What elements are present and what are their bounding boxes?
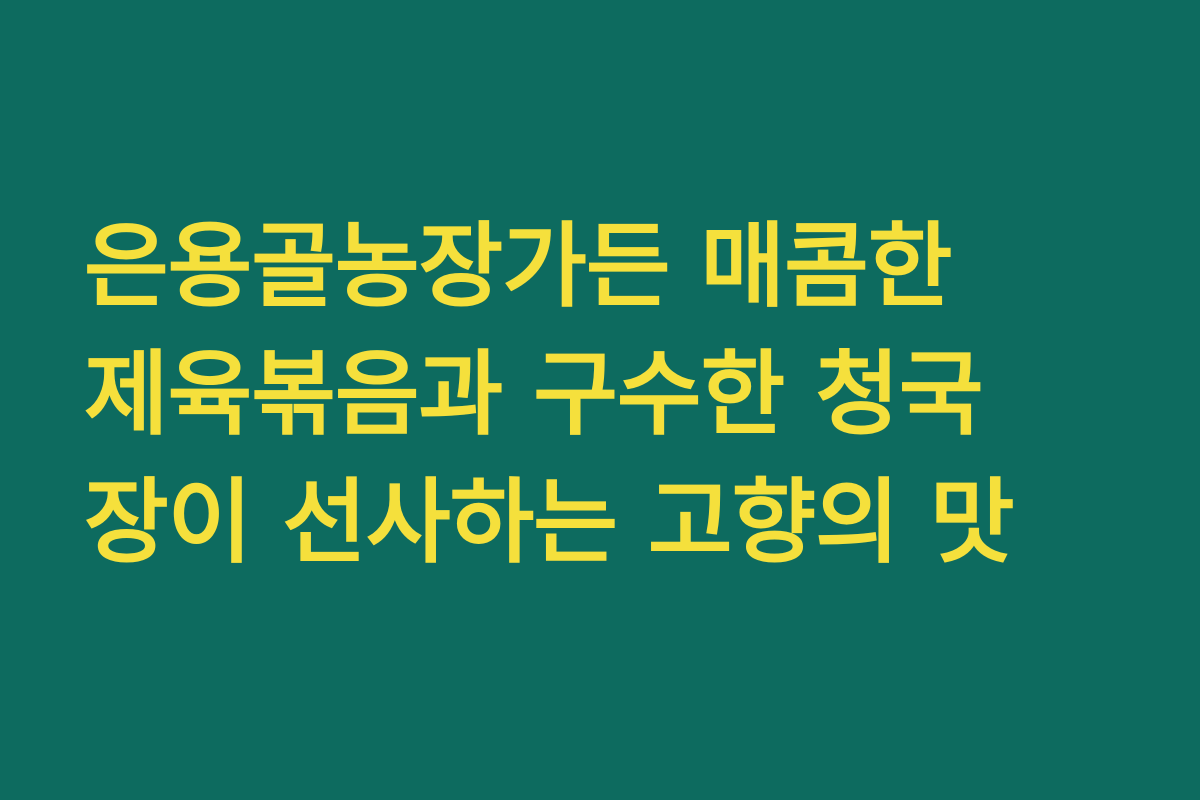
promotional-banner: 은용골농장가든 매콤한 제육볶음과 구수한 청국 장이 선사하는 고향의 맛 [0, 0, 1200, 800]
headline-line-1: 은용골농장가든 매콤한 [84, 203, 951, 331]
headline-line-2: 제육볶음과 구수한 청국 [84, 331, 982, 459]
headline-text-block: 은용골농장가든 매콤한 제육볶음과 구수한 청국 장이 선사하는 고향의 맛 [84, 203, 1116, 587]
headline-line-3: 장이 선사하는 고향의 맛 [84, 459, 1014, 587]
